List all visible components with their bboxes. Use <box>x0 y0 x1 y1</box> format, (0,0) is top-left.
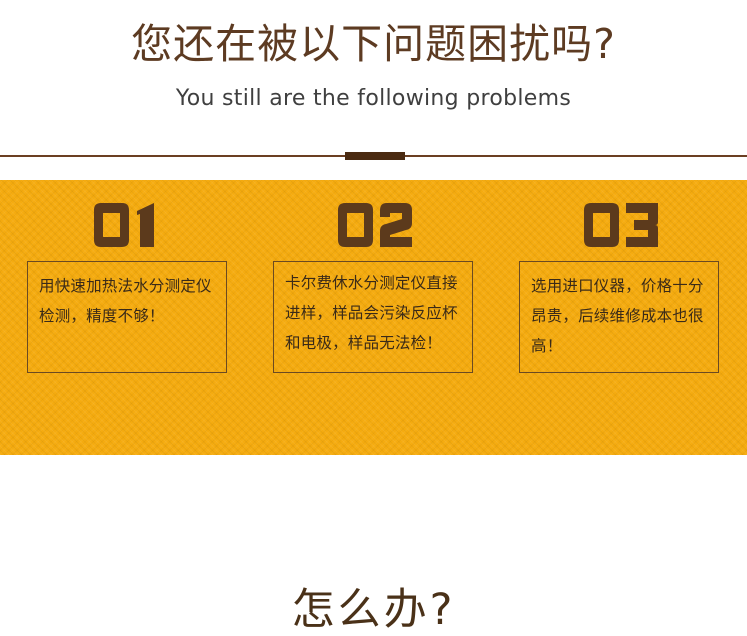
problem-number-03 <box>497 202 744 252</box>
header-section: 您还在被以下问题困扰吗? You still are the following… <box>0 0 747 180</box>
problem-text-1: 用快速加热法水分测定仪检测，精度不够！ <box>39 271 218 331</box>
page-title: 您还在被以下问题困扰吗? <box>0 18 747 70</box>
problem-number-01 <box>5 202 252 252</box>
digit-group-03-icon <box>582 202 660 248</box>
divider-center-block <box>345 152 405 160</box>
problem-number-02 <box>251 202 498 252</box>
problem-box-3: 选用进口仪器，价格十分昂贵，后续维修成本也很高！ <box>519 261 719 373</box>
digit-group-01-icon <box>92 202 166 248</box>
divider <box>0 152 747 162</box>
promo-banner: 您还在被以下问题困扰吗? You still are the following… <box>0 0 747 455</box>
problems-section: 用快速加热法水分测定仪检测，精度不够！ 卡尔费休水分测定仪直接进样，样品会污染反… <box>0 180 747 455</box>
problem-text-3: 选用进口仪器，价格十分昂贵，后续维修成本也很高！ <box>531 271 710 361</box>
call-to-action-text: 怎么办? <box>0 584 747 636</box>
problem-column-2: 卡尔费休水分测定仪直接进样，样品会污染反应杯和电极，样品无法检！ <box>251 180 498 455</box>
problem-column-3: 选用进口仪器，价格十分昂贵，后续维修成本也很高！ <box>497 180 744 455</box>
problem-text-2: 卡尔费休水分测定仪直接进样，样品会污染反应杯和电极，样品无法检！ <box>285 268 464 358</box>
problem-column-1: 用快速加热法水分测定仪检测，精度不够！ <box>5 180 252 455</box>
page-subtitle: You still are the following problems <box>0 84 747 114</box>
digit-group-02-icon <box>336 202 414 248</box>
problem-box-1: 用快速加热法水分测定仪检测，精度不够！ <box>27 261 227 373</box>
problem-box-2: 卡尔费休水分测定仪直接进样，样品会污染反应杯和电极，样品无法检！ <box>273 261 473 373</box>
